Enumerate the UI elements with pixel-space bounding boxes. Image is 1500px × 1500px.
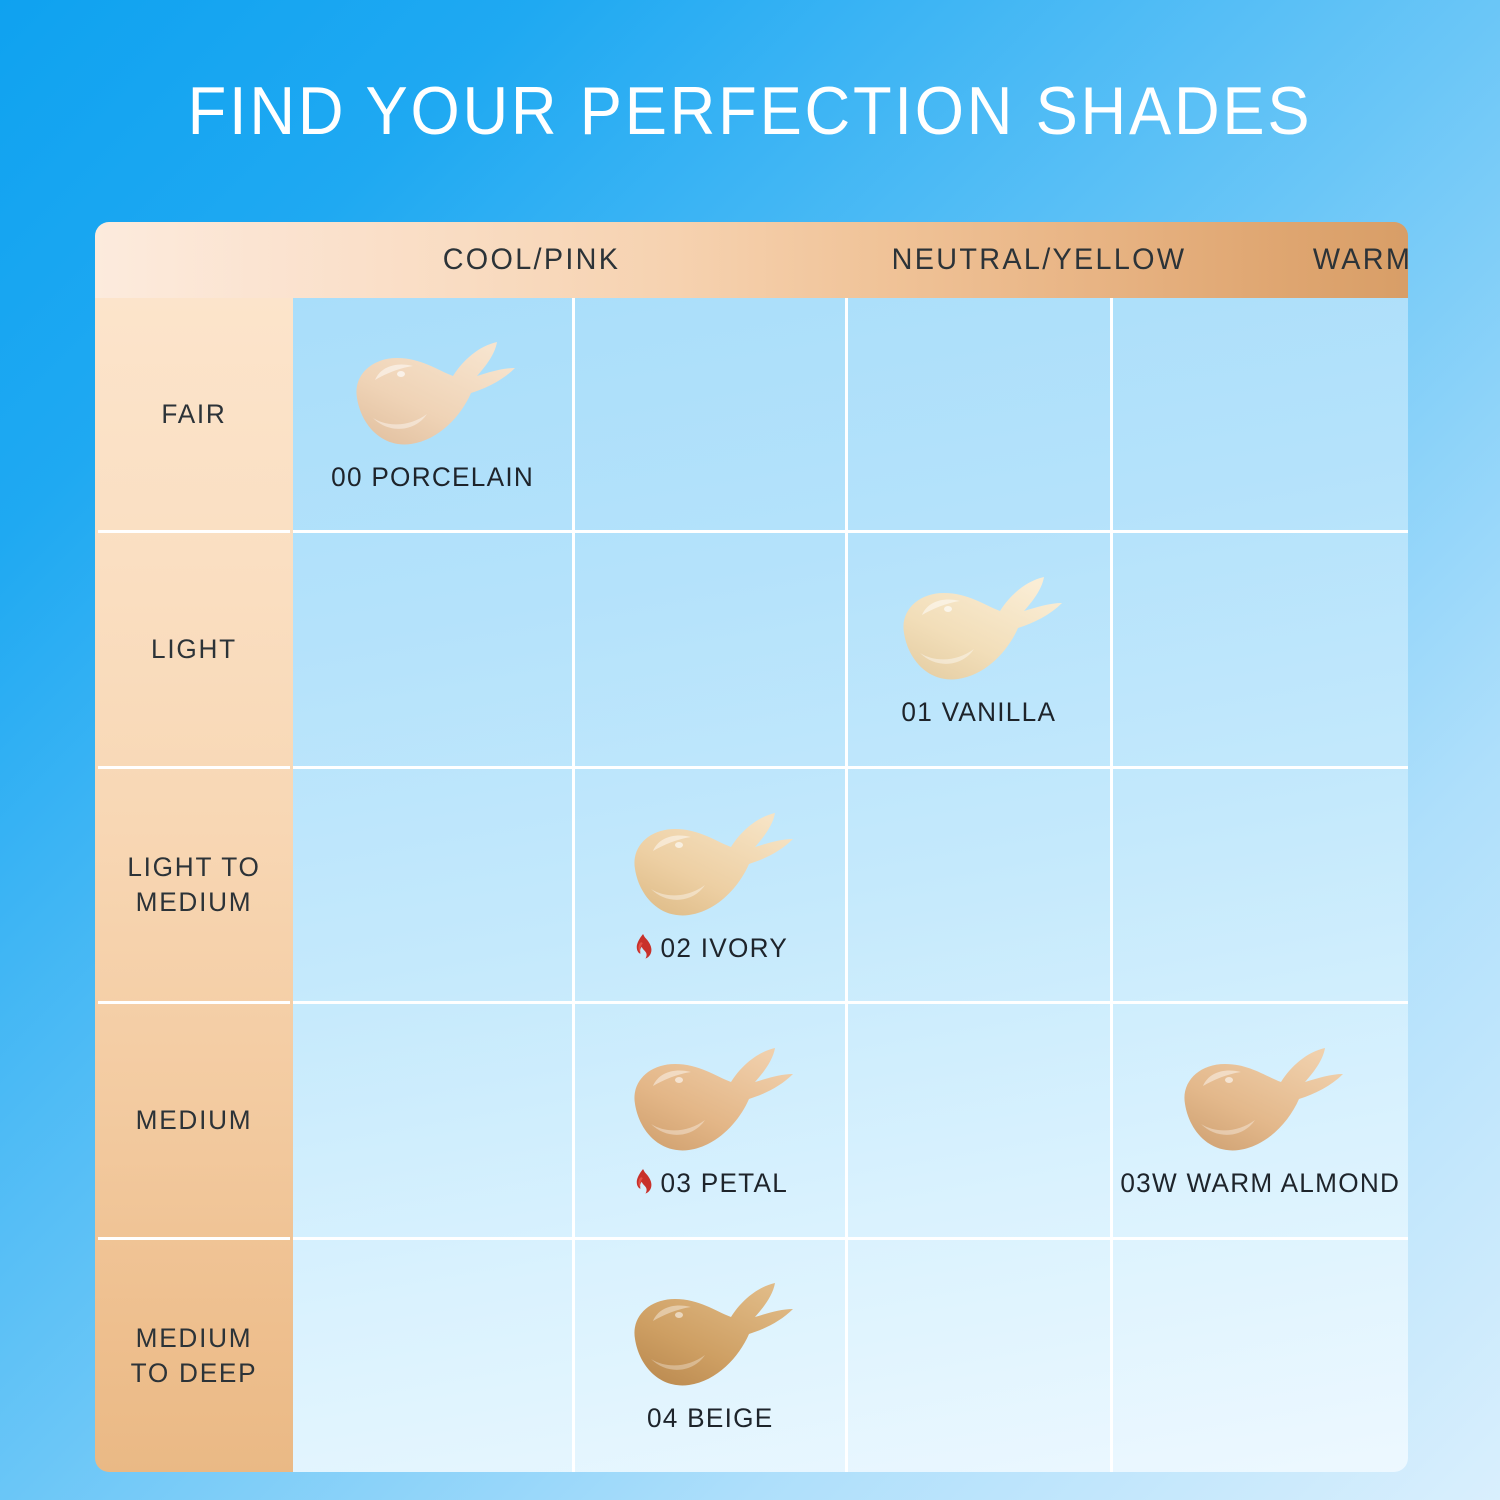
- row-label-line2: MEDIUM: [136, 887, 253, 917]
- swatch-row-medium-to-deep: 04 BEIGE: [293, 1237, 1408, 1472]
- swatch-cell-light-neutral-b[interactable]: 01 VANILLA: [845, 533, 1110, 765]
- swatch-cell-mtd-cool-pink[interactable]: [293, 1240, 572, 1472]
- swatch-cell-fair-warm-brown[interactable]: [1110, 298, 1408, 530]
- row-label-line1: LIGHT TO: [127, 852, 260, 882]
- swatch-cell-fair-cool-pink[interactable]: 00 PORCELAIN: [293, 298, 572, 530]
- swatch-cell-medium-neutral-b[interactable]: [845, 1004, 1110, 1236]
- shade-name: 00 PORCELAIN: [331, 462, 534, 493]
- depth-label-column: FAIR LIGHT LIGHT TO MEDIUM MEDIUM MEDIUM…: [95, 298, 293, 1472]
- table-header-row: COOL/PINK NEUTRAL/YELLOW WARM/BROWN: [95, 222, 1408, 298]
- swatch-row-light-to-medium: 02 IVORY: [293, 766, 1408, 1001]
- foundation-swatch-icon: [623, 807, 798, 925]
- shade-04-beige[interactable]: 04 BEIGE: [623, 1277, 798, 1434]
- row-label-fair-text: FAIR: [161, 397, 226, 432]
- shade-03-petal[interactable]: 03 PETAL: [623, 1042, 798, 1199]
- row-label-line2: TO DEEP: [131, 1358, 258, 1388]
- flame-icon: [632, 1169, 653, 1197]
- swatch-row-light: 01 VANILLA: [293, 530, 1408, 765]
- shade-02-ivory[interactable]: 02 IVORY: [623, 807, 798, 964]
- page-title: FIND YOUR PERFECTION SHADES: [53, 72, 1448, 150]
- swatch-row-medium: 03 PETAL: [293, 1001, 1408, 1236]
- shade-caption: 02 IVORY: [632, 933, 788, 964]
- shade-03w-warm-almond[interactable]: 03W WARM ALMOND: [1116, 1042, 1405, 1199]
- swatch-cell-fair-neutral-b[interactable]: [845, 298, 1110, 530]
- foundation-swatch-icon: [623, 1042, 798, 1160]
- swatch-cell-mtd-neutral-a[interactable]: 04 BEIGE: [572, 1240, 845, 1472]
- swatch-cell-ltm-neutral-a[interactable]: 02 IVORY: [572, 769, 845, 1001]
- row-label-line1: MEDIUM: [136, 1323, 253, 1353]
- shade-name: 01 VANILLA: [902, 697, 1057, 728]
- shade-name: 03 PETAL: [660, 1168, 788, 1199]
- row-label-light: LIGHT: [98, 530, 290, 765]
- row-label-medium-to-deep-text: MEDIUM TO DEEP: [131, 1321, 258, 1391]
- row-label-medium-text: MEDIUM: [136, 1103, 253, 1138]
- swatch-cell-ltm-warm-brown[interactable]: [1110, 769, 1408, 1001]
- swatch-cell-medium-warm-brown[interactable]: 03W WARM ALMOND: [1110, 1004, 1408, 1236]
- row-label-medium: MEDIUM: [98, 1001, 290, 1236]
- shade-01-vanilla[interactable]: 01 VANILLA: [892, 571, 1067, 728]
- column-header-warm-brown: WARM/BROWN: [1313, 222, 1408, 298]
- column-header-cool-pink: COOL/PINK: [303, 222, 761, 298]
- swatch-cell-light-cool-pink[interactable]: [293, 533, 572, 765]
- swatch-grid: 00 PORCELAIN: [293, 298, 1408, 1472]
- shade-name: 03W WARM ALMOND: [1121, 1168, 1401, 1199]
- shade-caption: 04 BEIGE: [647, 1403, 774, 1434]
- shade-caption: 00 PORCELAIN: [331, 462, 534, 493]
- swatch-cell-ltm-neutral-b[interactable]: [845, 769, 1110, 1001]
- row-label-light-to-medium: LIGHT TO MEDIUM: [98, 766, 290, 1001]
- table-body: FAIR LIGHT LIGHT TO MEDIUM MEDIUM MEDIUM…: [95, 298, 1408, 1472]
- row-label-light-to-medium-text: LIGHT TO MEDIUM: [127, 850, 260, 920]
- foundation-swatch-icon: [345, 336, 520, 454]
- shade-caption: 03W WARM ALMOND: [1121, 1168, 1401, 1199]
- column-header-neutral-yellow: NEUTRAL/YELLOW: [781, 222, 1297, 298]
- swatch-cell-medium-neutral-a[interactable]: 03 PETAL: [572, 1004, 845, 1236]
- row-label-fair: FAIR: [98, 298, 290, 530]
- shade-finder-table: COOL/PINK NEUTRAL/YELLOW WARM/BROWN FAIR…: [95, 222, 1408, 1472]
- table-header-corner-cell: [95, 222, 293, 298]
- swatch-cell-light-warm-brown[interactable]: [1110, 533, 1408, 765]
- swatch-cell-mtd-neutral-b[interactable]: [845, 1240, 1110, 1472]
- row-label-medium-to-deep: MEDIUM TO DEEP: [98, 1237, 290, 1472]
- swatch-cell-fair-neutral-a[interactable]: [572, 298, 845, 530]
- swatch-row-fair: 00 PORCELAIN: [293, 298, 1408, 530]
- swatch-cell-ltm-cool-pink[interactable]: [293, 769, 572, 1001]
- shade-name: 04 BEIGE: [647, 1403, 774, 1434]
- swatch-cell-light-neutral-a[interactable]: [572, 533, 845, 765]
- shade-name: 02 IVORY: [660, 933, 788, 964]
- shade-00-porcelain[interactable]: 00 PORCELAIN: [328, 336, 537, 493]
- flame-icon: [632, 934, 653, 962]
- shade-caption: 03 PETAL: [632, 1168, 788, 1199]
- row-label-light-text: LIGHT: [151, 632, 237, 667]
- swatch-cell-medium-cool-pink[interactable]: [293, 1004, 572, 1236]
- foundation-swatch-icon: [892, 571, 1067, 689]
- shade-caption: 01 VANILLA: [902, 697, 1057, 728]
- swatch-cell-mtd-warm-brown[interactable]: [1110, 1240, 1408, 1472]
- foundation-swatch-icon: [623, 1277, 798, 1395]
- foundation-swatch-icon: [1173, 1042, 1348, 1160]
